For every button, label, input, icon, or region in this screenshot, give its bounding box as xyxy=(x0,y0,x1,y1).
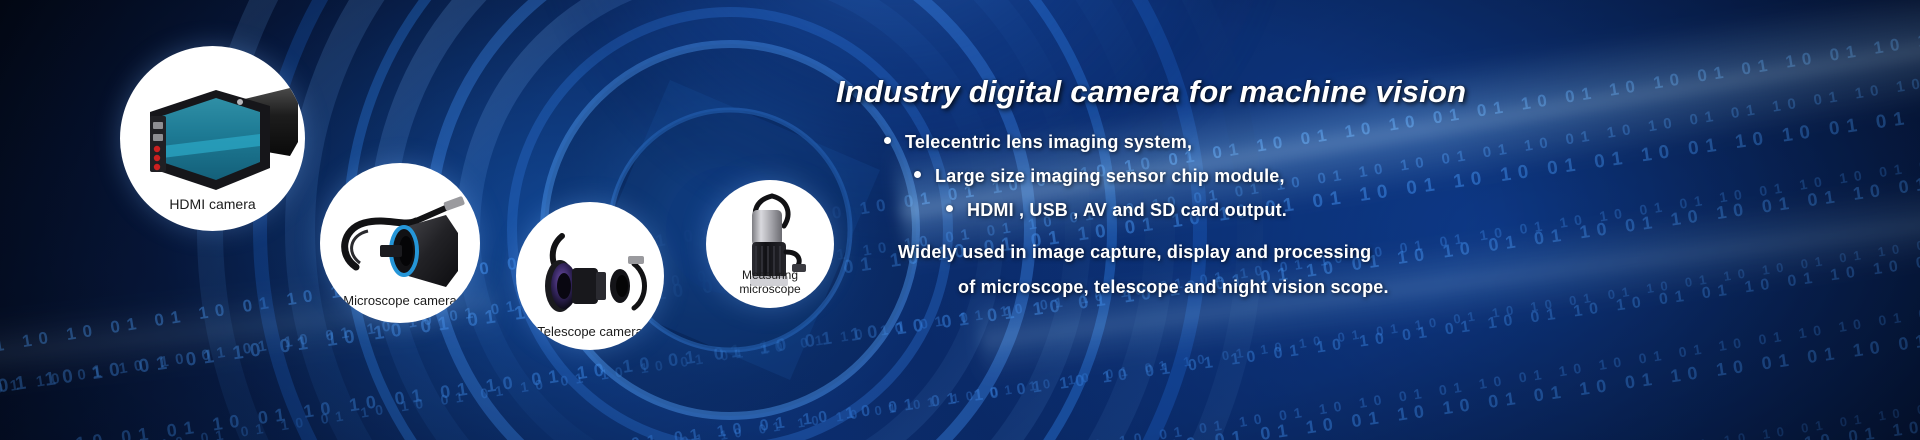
product-caption: Telescope camera xyxy=(537,325,643,350)
marketing-copy: Industry digital camera for machine visi… xyxy=(836,74,1906,296)
product-caption: Microscope camera xyxy=(343,294,456,323)
bullet-dot-icon xyxy=(884,137,891,144)
description-line-1: Widely used in image capture, display an… xyxy=(898,243,1906,261)
caption-line-1: Measuring xyxy=(742,268,798,282)
feature-item: HDMI , USB , AV and SD card output. xyxy=(946,200,1906,221)
product-banner: 01 10 01 10 10 01 01 10 01 10 10 01 01 1… xyxy=(0,0,1920,440)
bullet-dot-icon xyxy=(946,205,953,212)
feature-item: Large size imaging sensor chip module, xyxy=(914,166,1906,187)
feature-item: Telecentric lens imaging system, xyxy=(884,132,1906,153)
product-microscope-camera[interactable]: Microscope camera xyxy=(320,163,480,323)
feature-list: Telecentric lens imaging system, Large s… xyxy=(836,132,1906,221)
product-caption: Measuring microscope xyxy=(739,269,800,308)
caption-line-2: microscope xyxy=(739,282,800,296)
product-hdmi-camera[interactable]: HDMI camera xyxy=(120,46,305,231)
product-measuring-microscope[interactable]: Measuring microscope xyxy=(706,180,834,308)
product-caption: HDMI camera xyxy=(169,197,255,231)
bullet-dot-icon xyxy=(914,171,921,178)
description-line-2: of microscope, telescope and night visio… xyxy=(958,278,1906,296)
feature-label: Telecentric lens imaging system, xyxy=(905,132,1192,153)
feature-label: HDMI , USB , AV and SD card output. xyxy=(967,200,1287,221)
product-telescope-camera[interactable]: Telescope camera xyxy=(516,202,664,350)
headline: Industry digital camera for machine visi… xyxy=(836,74,1906,110)
feature-label: Large size imaging sensor chip module, xyxy=(935,166,1285,187)
description-paragraph: Widely used in image capture, display an… xyxy=(836,243,1906,296)
